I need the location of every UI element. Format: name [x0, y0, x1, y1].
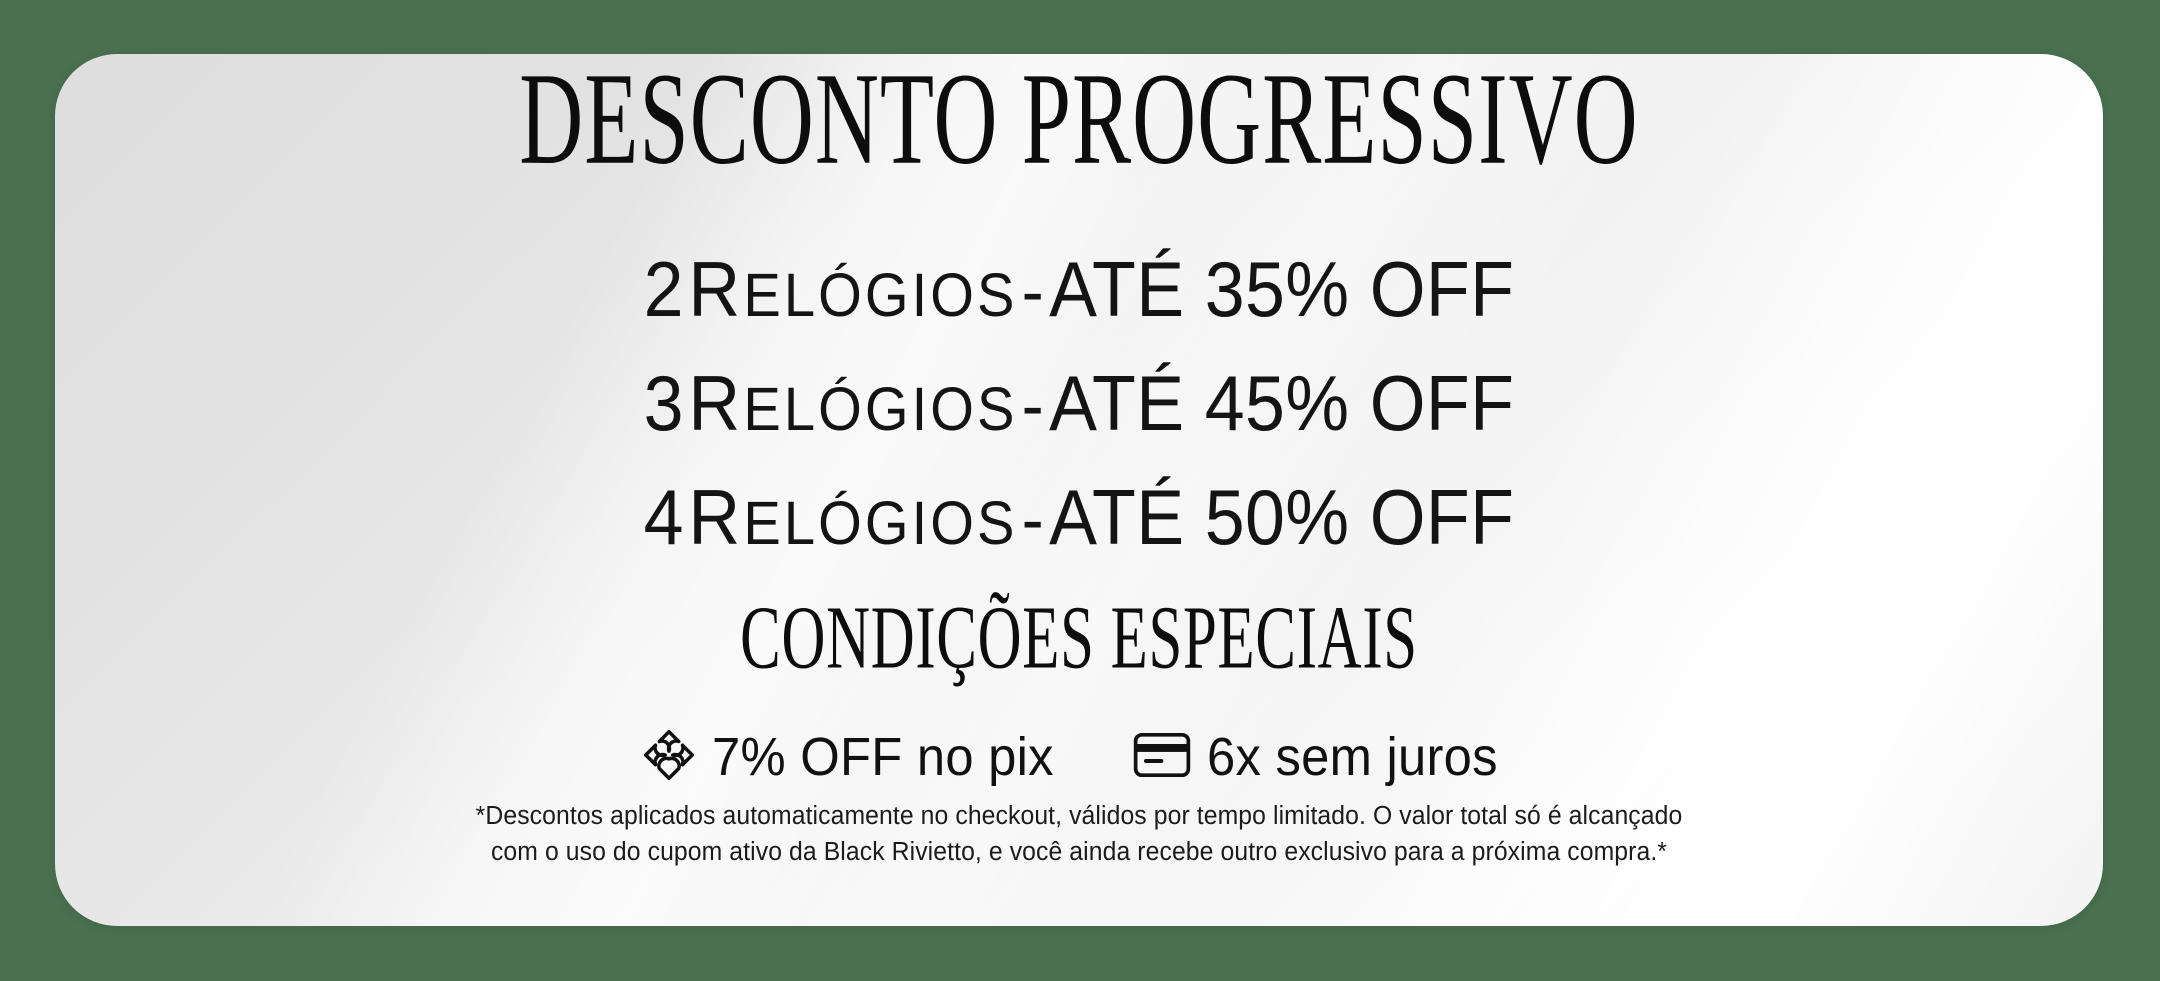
fine-print-line-1: *Descontos aplicados automaticamente no … [86, 798, 2073, 834]
discount-tier-list: 2 Relógios - ATÉ 35% OFF 3 Relógios - AT… [55, 250, 2103, 556]
discount-tier-row: 3 Relógios - ATÉ 45% OFF [137, 364, 2021, 442]
payment-methods-row: 7% OFF no pix 6x sem juros [55, 726, 2103, 788]
pix-icon [642, 728, 696, 787]
tier-offer: ATÉ 45% OFF [1049, 359, 1514, 447]
discount-tier-row: 2 Relógios - ATÉ 35% OFF [137, 250, 2021, 328]
credit-card-icon [1133, 732, 1191, 783]
tier-quantity: 3 [644, 359, 685, 447]
promo-card: DESCONTO PROGRESSIVO 2 Relógios - ATÉ 35… [55, 54, 2103, 926]
fine-print-line-2: com o uso do cupom ativo da Black Riviet… [86, 834, 2073, 870]
tier-quantity: 2 [644, 245, 685, 333]
promo-banner: DESCONTO PROGRESSIVO 2 Relógios - ATÉ 35… [0, 0, 2160, 981]
discount-tier-row: 4 Relógios - ATÉ 50% OFF [137, 478, 2021, 556]
tier-offer: ATÉ 35% OFF [1049, 245, 1514, 333]
page-title: DESCONTO PROGRESSIVO [239, 54, 1918, 186]
tier-quantity: 4 [644, 473, 685, 561]
fine-print: *Descontos aplicados automaticamente no … [55, 798, 2103, 870]
promo-card-content: DESCONTO PROGRESSIVO 2 Relógios - ATÉ 35… [55, 54, 2103, 926]
payment-method-pix: 7% OFF no pix [642, 726, 1076, 788]
tier-offer: ATÉ 50% OFF [1049, 473, 1514, 561]
tier-item-label: Relógios [688, 261, 1017, 329]
payment-label-credit-card: 6x sem juros [1207, 726, 1498, 788]
conditions-title: CONDIÇÕES ESPECIAIS [260, 593, 1898, 683]
tier-separator: - [1022, 252, 1045, 332]
tier-item-label: Relógios [688, 489, 1017, 557]
payment-label-pix: 7% OFF no pix [712, 726, 1054, 788]
payment-method-credit-card: 6x sem juros [1133, 726, 1516, 788]
tier-separator: - [1022, 480, 1045, 560]
tier-item-label: Relógios [688, 375, 1017, 443]
tier-separator: - [1022, 366, 1045, 446]
